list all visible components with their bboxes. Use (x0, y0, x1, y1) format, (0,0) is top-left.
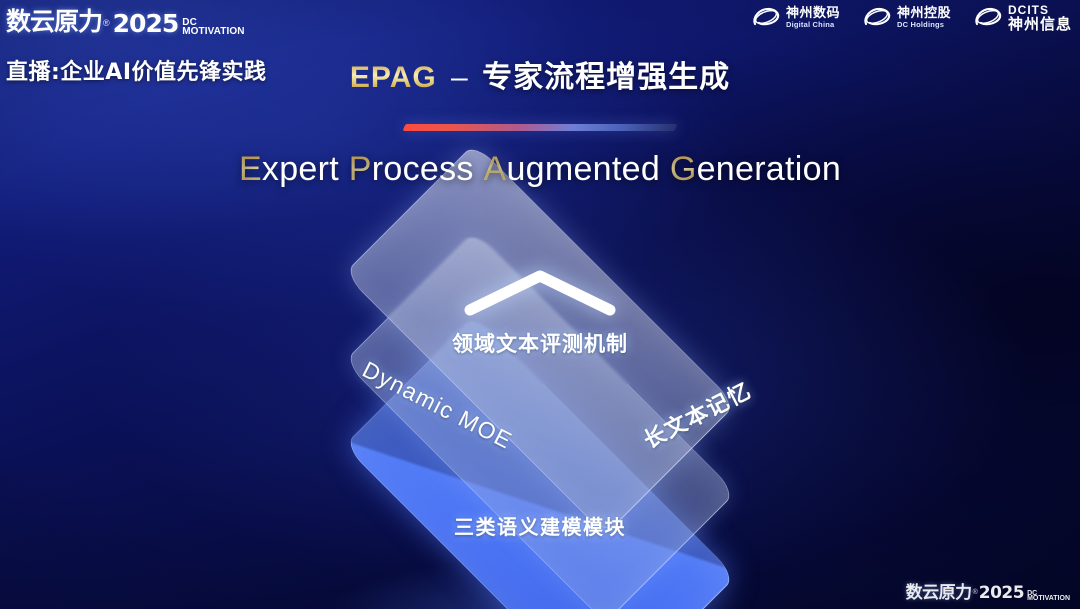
title-main-cn: 专家流程增强生成 (482, 60, 730, 95)
layer-label-top: 领域文本评测机制 (452, 328, 628, 358)
brand-subtitle: DC MOTIVATION (182, 19, 244, 38)
brand-name-cn: 数云原力 (6, 2, 102, 38)
swirl-logo-icon (862, 5, 892, 31)
watermark-subtitle-line2: MOTIVATION (1027, 596, 1070, 602)
partner-logo-text: 神州数码 Digital China (786, 7, 840, 29)
partner-name-en: Digital China (786, 21, 840, 29)
brand-registered-mark: ® (103, 18, 110, 28)
subtitle-rest-augmented: ugmented (506, 150, 660, 188)
chevron-up-icon (460, 268, 620, 316)
partner-name-cn: 神州控股 (897, 7, 951, 21)
partner-logo-text: 神州控股 DC Holdings (897, 7, 951, 29)
subtitle-rest-generation: eneration (697, 150, 841, 188)
watermark-year: 2025 (979, 583, 1024, 603)
partner-logo-text: DCITS 神州信息 (1008, 4, 1072, 32)
title-acronym: EPAG (350, 61, 437, 94)
footer-watermark: 数云原力 ® 2025 DC MOTIVATION (906, 578, 1070, 603)
subtitle-initial-p: P (349, 150, 372, 188)
live-session-title: 直播:企业AI价值先锋实践 (6, 54, 267, 86)
partner-name-cn: 神州信息 (1008, 17, 1072, 33)
partner-name-cn: 神州数码 (786, 7, 840, 21)
partner-logo-digital-china: 神州数码 Digital China (751, 5, 840, 31)
page-subtitle: Expert Process Augmented Generation (0, 150, 1080, 189)
layer-stack-diagram: 领域文本评测机制 Dynamic MOE 长文本记忆 三类语义建模模块 (280, 228, 800, 568)
subtitle-initial-e: E (239, 150, 262, 188)
brand-year: 2025 (113, 9, 179, 38)
brand-logo: 数云原力 ® 2025 DC MOTIVATION (6, 2, 245, 38)
partner-logo-group: 神州数码 Digital China 神州控股 DC Holdings (751, 4, 1072, 32)
partner-logo-dcits: DCITS 神州信息 (973, 4, 1072, 32)
watermark-registered-mark: ® (973, 589, 978, 596)
watermark-subtitle: DC MOTIVATION (1027, 591, 1070, 603)
watermark-name-cn: 数云原力 (906, 578, 972, 603)
swirl-logo-icon (973, 5, 1003, 31)
title-separator: – (445, 61, 474, 94)
brand-subtitle-line2: MOTIVATION (182, 28, 244, 36)
subtitle-initial-g: G (670, 150, 697, 188)
swirl-logo-icon (751, 5, 781, 31)
subtitle-rest-expert: xpert (262, 150, 339, 188)
partner-name-en: DC Holdings (897, 21, 951, 29)
partner-logo-dc-holdings: 神州控股 DC Holdings (862, 5, 951, 31)
subtitle-rest-process: rocess (372, 150, 474, 188)
subtitle-initial-a: A (483, 150, 506, 188)
layer-label-bottom: 三类语义建模模块 (454, 511, 626, 540)
presentation-slide: 数云原力 ® 2025 DC MOTIVATION 直播:企业AI价值先锋实践 … (0, 0, 1080, 609)
decorative-rule-bar (403, 124, 678, 131)
